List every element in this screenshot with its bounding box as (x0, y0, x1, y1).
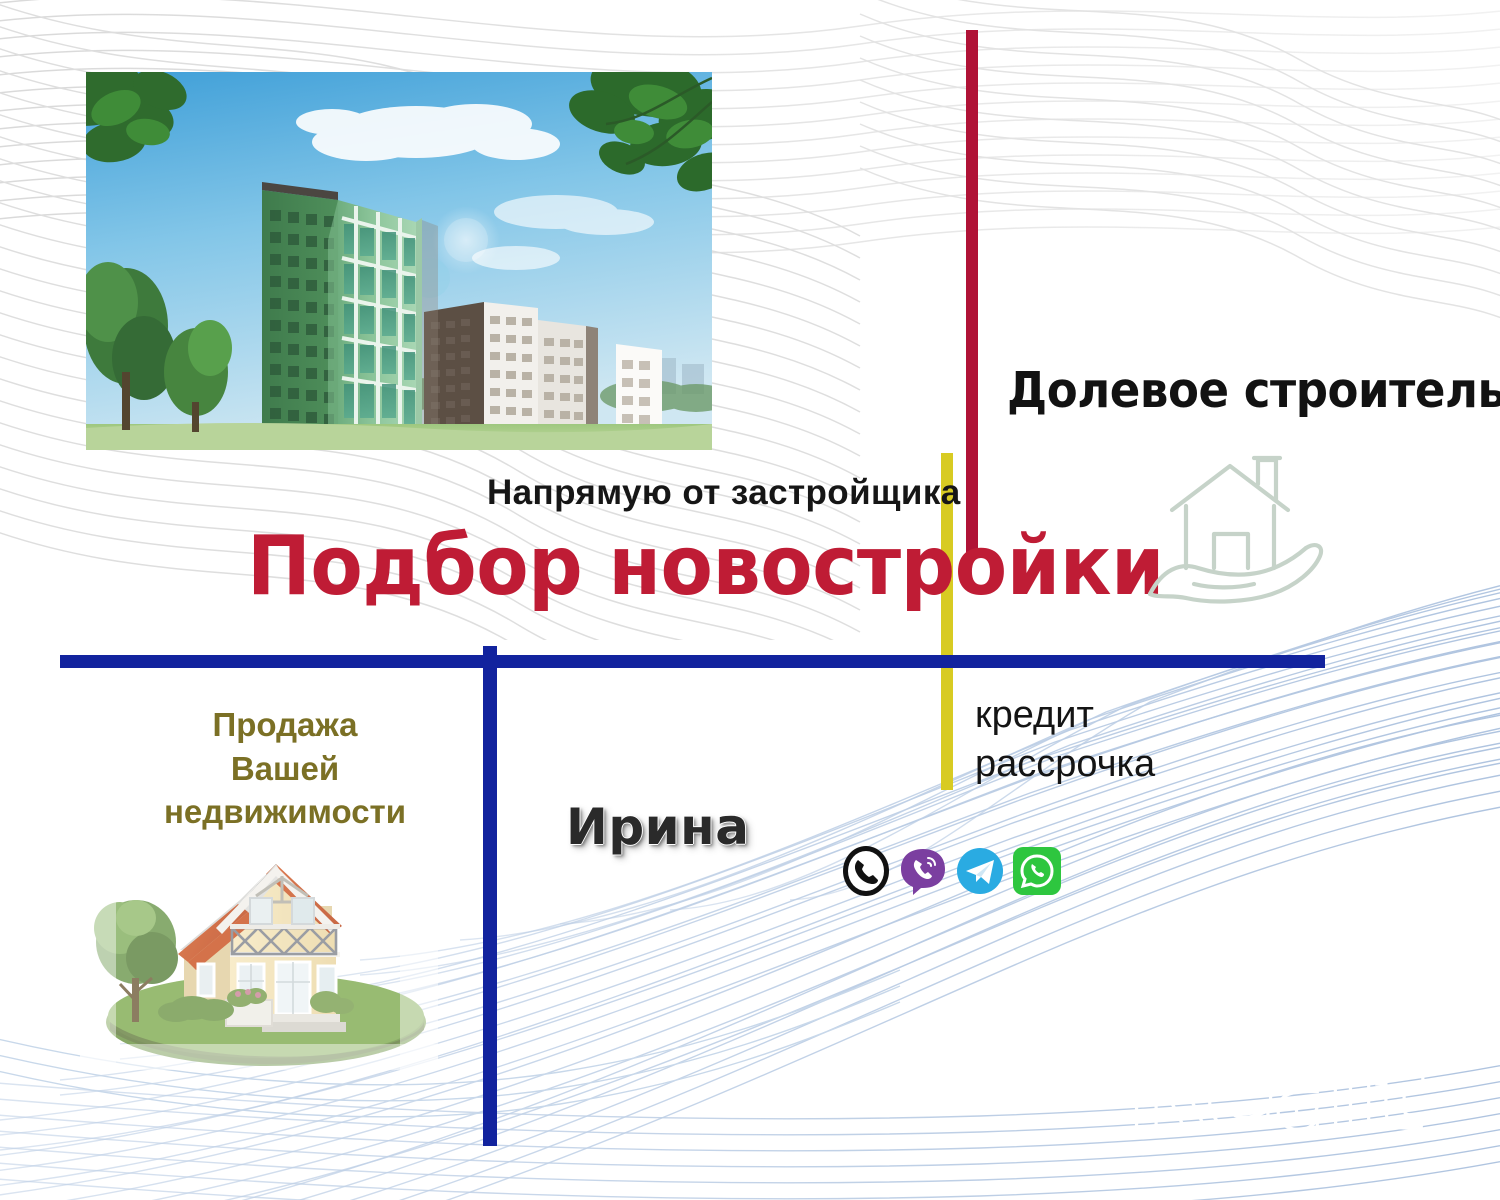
label-financing-options: кредит рассрочка (975, 691, 1155, 788)
sell-property-line-1: Продажа Вашей (212, 706, 357, 787)
tagline-direct-from-developer: Напрямую от застройщика (487, 473, 961, 513)
telegram-icon[interactable] (954, 845, 1006, 897)
watermark-text: Realt (1127, 1048, 1423, 1148)
heading-shared-construction: Долевое строительство (1007, 362, 1500, 419)
page-title: Подбор новостройки (247, 519, 1164, 614)
realt-watermark: Realt (1125, 1048, 1455, 1148)
private-cottage-photo (80, 832, 438, 1070)
viber-icon[interactable] (897, 845, 949, 897)
label-sell-your-property: Продажа Вашей недвижимости (155, 703, 415, 834)
sell-property-line-2: недвижимости (164, 793, 406, 830)
phone-icon[interactable] (840, 845, 892, 897)
financing-line-credit: кредит (975, 694, 1094, 736)
divider-vertical-crimson (966, 30, 978, 555)
divider-horizontal-blue (60, 655, 1325, 668)
divider-vertical-blue (483, 646, 497, 1146)
house-in-hand-icon (1140, 448, 1330, 608)
real-estate-poster: Realt (0, 0, 1500, 1200)
whatsapp-icon[interactable] (1011, 845, 1063, 897)
agent-name: Ирина (566, 798, 749, 856)
financing-line-installment: рассрочка (975, 743, 1155, 785)
messenger-icon-row (840, 845, 1063, 897)
new-apartment-buildings-photo (86, 72, 712, 450)
